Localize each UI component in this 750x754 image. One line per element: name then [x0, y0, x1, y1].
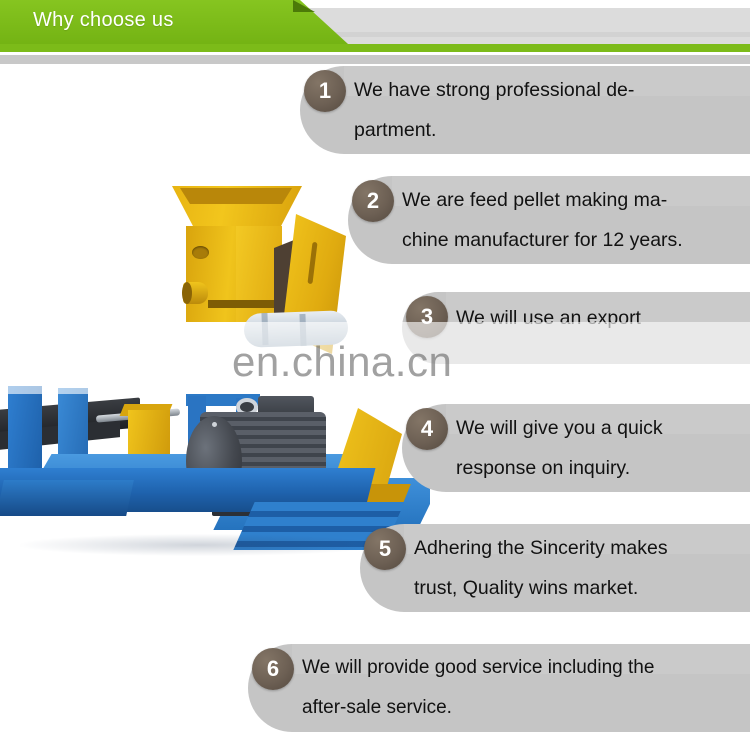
why-choose-us-panel: Why choose us [0, 0, 750, 754]
yellow-bracket [128, 410, 170, 460]
benefit-text: We will provide good service including t… [302, 648, 746, 728]
benefit-number-badge: 2 [352, 180, 394, 222]
benefit-text-line-2: trust, Quality wins market. [414, 568, 746, 608]
benefit-number-badge: 1 [304, 70, 346, 112]
hopper-funnel-opening [180, 188, 292, 204]
benefit-text: We have strong professional de- partment… [354, 70, 746, 150]
frame-base-pad [0, 480, 134, 516]
benefit-text-line-1: We will give you a quick [456, 408, 746, 448]
benefit-text-line-2: after-sale service. [302, 688, 746, 728]
motor-cap-marker [212, 422, 217, 427]
benefit-number-badge: 5 [364, 528, 406, 570]
subheader-strip [0, 55, 750, 64]
hopper-port-icon [192, 246, 209, 259]
page-title: Why choose us [33, 9, 174, 32]
photo-ground-shadow [20, 534, 380, 556]
header-gray-band [300, 8, 750, 44]
benefit-text-line-1: We have strong professional de- [354, 70, 746, 110]
benefit-number-badge: 6 [252, 648, 294, 690]
benefit-text: We will use an export [456, 296, 746, 340]
benefit-item-1: 1 We have strong professional de- partme… [300, 66, 750, 154]
header-green-underline [0, 44, 750, 52]
hopper-outlet-tube-end [182, 282, 192, 304]
benefit-text-line-1: We will use an export [456, 296, 746, 340]
benefit-text-line-1: We are feed pellet making ma- [402, 180, 746, 220]
benefit-number-badge: 3 [406, 296, 448, 338]
benefit-text-line-1: We will provide good service including t… [302, 648, 746, 688]
benefit-text: Adhering the Sincerity makes trust, Qual… [414, 528, 746, 608]
benefit-text: We will give you a quick response on inq… [456, 408, 746, 488]
benefit-text-line-2: chine manufacturer for 12 years. [402, 220, 746, 260]
header-gray-sheen [300, 32, 750, 37]
benefit-text-line-2: response on inquiry. [456, 448, 746, 488]
benefit-item-4: 4 We will give you a quick response on i… [402, 404, 750, 492]
barrel-band [299, 314, 306, 346]
benefit-text-line-1: Adhering the Sincerity makes [414, 528, 746, 568]
benefit-text: We are feed pellet making ma- chine manu… [402, 180, 746, 260]
benefit-number-badge: 4 [406, 408, 448, 450]
benefit-text-line-2: partment. [354, 110, 746, 150]
benefit-item-2: 2 We are feed pellet making ma- chine ma… [348, 176, 750, 264]
benefit-item-3: 3 We will use an export [402, 292, 750, 364]
barrel-band [261, 313, 268, 345]
header-banner: Why choose us [0, 0, 750, 52]
extruder-barrel [243, 310, 348, 348]
benefit-item-5: 5 Adhering the Sincerity makes trust, Qu… [360, 524, 750, 612]
benefit-item-6: 6 We will provide good service including… [248, 644, 750, 732]
